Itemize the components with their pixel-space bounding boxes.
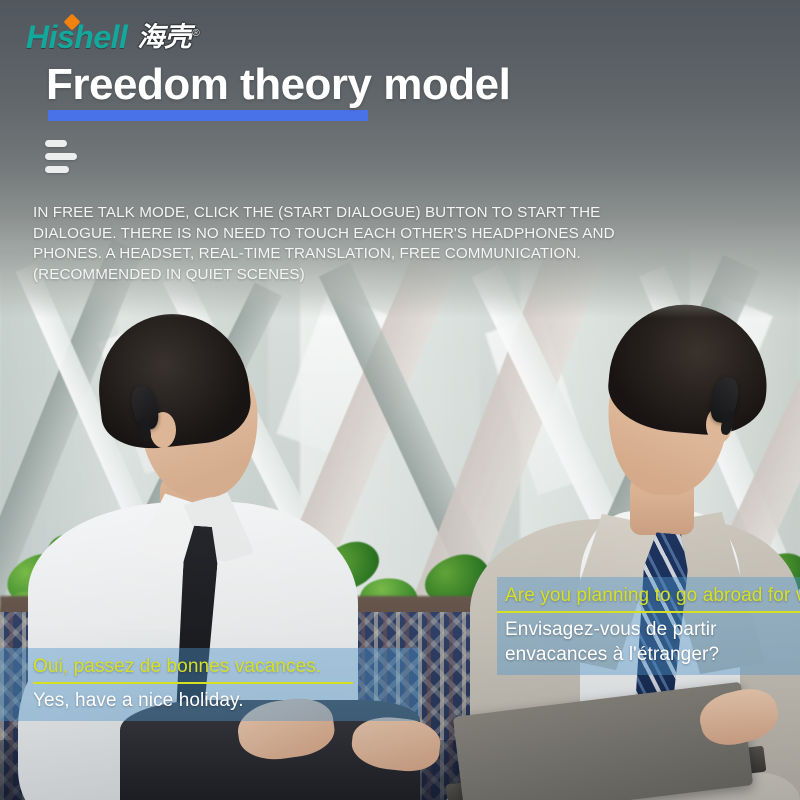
- hair: [605, 298, 774, 439]
- page-title: Freedom theory model: [46, 62, 510, 108]
- title-underline-bar: [48, 110, 368, 121]
- caption-left: Oui, passez de bonnes vacances. Yes, hav…: [0, 648, 420, 721]
- deco-line: [45, 153, 77, 160]
- caption-right-source: Are you planning to go abroad for vacati…: [505, 583, 800, 608]
- person-right: [430, 295, 800, 800]
- description-paragraph: IN FREE TALK MODE, CLICK THE (START DIAL…: [33, 203, 673, 285]
- caption-left-source: Oui, passez de bonnes vacances.: [33, 654, 410, 679]
- promo-banner: Hishell 海壳® Freedom theory model IN FREE…: [0, 0, 800, 800]
- caption-right: Are you planning to go abroad for vacati…: [497, 577, 800, 675]
- caption-right-divider: [497, 611, 800, 613]
- three-lines-icon: [45, 140, 77, 179]
- title-block: Freedom theory model: [46, 62, 510, 108]
- trademark-icon: ®: [192, 28, 199, 39]
- caption-left-translation: Yes, have a nice holiday.: [33, 688, 410, 713]
- deco-line: [45, 166, 69, 173]
- brand-name-chinese: 海壳®: [137, 24, 199, 51]
- deco-line: [45, 140, 67, 147]
- brand-logo: Hishell 海壳®: [26, 18, 200, 56]
- caption-left-divider: [33, 682, 353, 684]
- brand-name-cn-text: 海壳: [137, 22, 191, 52]
- brand-name: Hishell: [26, 21, 127, 53]
- caption-right-translation: Envisagez-vous de partir envacances à l'…: [505, 617, 800, 667]
